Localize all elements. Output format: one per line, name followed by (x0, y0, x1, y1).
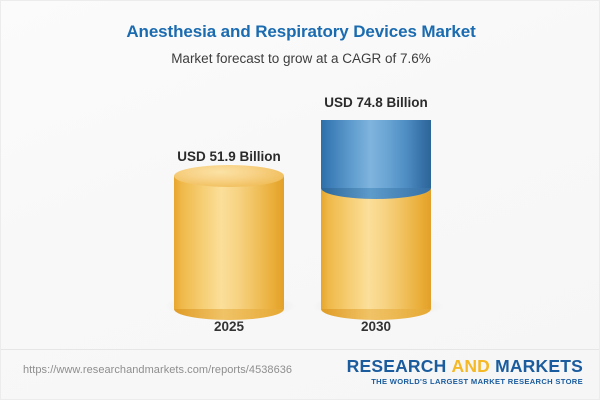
chart-card: Anesthesia and Respiratory Devices Marke… (0, 0, 600, 400)
category-label-2030: 2030 (266, 319, 486, 334)
footer: https://www.researchandmarkets.com/repor… (1, 350, 600, 400)
bar-top-cap-2030 (321, 109, 431, 131)
chart-plot-area: USD 51.9 Billion 2025 USD 74.8 Billion (1, 1, 600, 349)
bar-segment-growth-2030 (321, 120, 431, 188)
bar-body-2025 (174, 176, 284, 309)
bar-segment-base-2030 (321, 188, 431, 309)
logo-wordmark: RESEARCH AND MARKETS (347, 356, 583, 376)
bar-value-label-2025: USD 51.9 Billion (119, 149, 339, 164)
bar-body-base-2030 (321, 188, 431, 309)
report-url-link[interactable]: https://www.researchandmarkets.com/repor… (23, 364, 292, 376)
logo-tagline: THE WORLD'S LARGEST MARKET RESEARCH STOR… (347, 377, 583, 387)
bar-top-cap-2025 (174, 165, 284, 187)
research-and-markets-logo[interactable]: RESEARCH AND MARKETS THE WORLD'S LARGEST… (347, 356, 583, 387)
bar-value-label-2030: USD 74.8 Billion (266, 95, 486, 110)
logo-word-and: AND (451, 356, 490, 376)
bar-segment-base-2025 (174, 176, 284, 309)
logo-word-research: RESEARCH (347, 356, 447, 376)
logo-word-markets: MARKETS (495, 356, 583, 376)
